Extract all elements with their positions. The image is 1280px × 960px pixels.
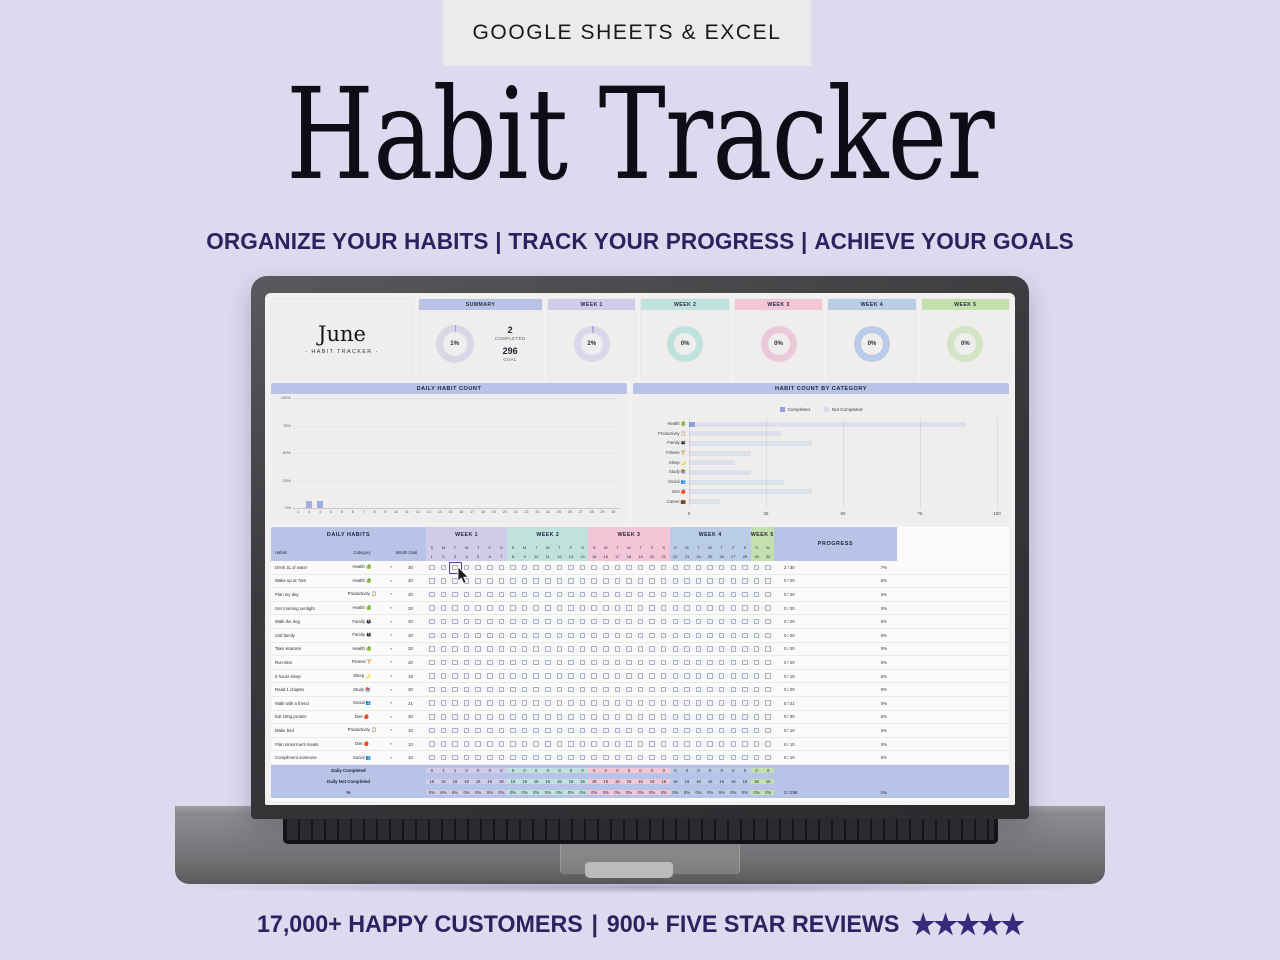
habit-day-cell[interactable] [565,728,577,734]
habit-checkbox[interactable] [533,619,539,625]
habit-day-cell[interactable] [484,741,496,747]
habit-checkbox[interactable] [545,687,551,693]
habit-checkbox[interactable] [707,565,713,571]
habit-checkbox[interactable] [522,714,528,720]
habit-day-cell[interactable] [751,619,763,625]
habit-day-cell[interactable] [658,700,670,706]
habit-day-cell[interactable] [704,755,716,761]
habit-checkbox[interactable] [464,578,470,584]
habit-category[interactable]: Productivity 📋 [337,727,387,733]
habit-day-cell[interactable] [751,646,763,652]
habit-checkbox[interactable] [557,687,563,693]
habit-checkbox[interactable] [684,714,690,720]
day-number[interactable]: 18 [623,552,635,561]
habit-day-cell[interactable] [496,605,508,611]
habit-checkbox[interactable] [603,646,609,652]
habit-day-cell[interactable] [507,714,519,720]
habit-day-cell[interactable] [693,592,705,598]
habit-checkbox[interactable] [754,578,760,584]
habit-checkbox[interactable] [452,605,458,611]
habit-checkbox[interactable] [707,619,713,625]
habit-day-cell[interactable] [681,619,693,625]
habit-day-cell[interactable] [507,633,519,639]
habit-checkbox[interactable] [719,714,725,720]
habit-day-cell[interactable] [704,646,716,652]
habit-day-cell[interactable] [670,605,682,611]
habit-checkbox[interactable] [464,592,470,598]
habit-checkbox[interactable] [580,660,586,666]
habit-checkbox[interactable] [557,714,563,720]
habit-checkbox[interactable] [568,687,574,693]
habit-checkbox[interactable] [545,660,551,666]
habit-day-cell[interactable] [542,619,554,625]
habit-day-cell[interactable] [542,741,554,747]
habit-day-cell[interactable] [623,619,635,625]
habit-checkbox[interactable] [638,605,644,611]
habit-day-cell[interactable] [472,755,484,761]
habit-checkbox[interactable] [731,660,737,666]
habit-day-cell[interactable] [472,728,484,734]
habit-day-cell[interactable] [658,673,670,679]
habit-day-cell[interactable] [635,605,647,611]
habit-checkbox[interactable] [441,741,447,747]
habit-checkbox[interactable] [452,741,458,747]
habit-checkbox[interactable] [765,673,771,679]
habit-checkbox[interactable] [441,673,447,679]
habit-day-cell[interactable] [426,673,438,679]
habit-day-cell[interactable] [728,633,740,639]
day-number[interactable]: 29 [751,552,763,561]
habit-day-cell[interactable] [681,646,693,652]
habit-checkbox[interactable] [580,673,586,679]
habit-day-cell[interactable] [577,565,589,571]
habit-day-cell[interactable] [577,714,589,720]
habit-checkbox[interactable] [591,592,597,598]
habit-day-cell[interactable] [588,741,600,747]
habit-day-cell[interactable] [658,741,670,747]
habit-checkbox[interactable] [684,660,690,666]
habit-month-goal[interactable]: 20 [395,687,426,692]
habit-day-cell[interactable] [739,605,751,611]
habit-checkbox[interactable] [673,673,679,679]
habit-day-cell[interactable] [623,673,635,679]
habit-checkbox[interactable] [754,633,760,639]
habit-day-cell[interactable] [693,633,705,639]
habit-checkbox[interactable] [649,714,655,720]
habit-day-cell[interactable] [496,673,508,679]
habit-day-cell[interactable] [438,755,450,761]
habit-day-cell[interactable] [588,714,600,720]
habit-checkbox[interactable] [731,578,737,584]
habit-day-cell[interactable] [612,728,624,734]
habit-checkbox[interactable] [765,687,771,693]
habit-checkbox[interactable] [684,646,690,652]
day-number[interactable]: 30 [762,552,774,561]
habit-checkbox[interactable] [673,755,679,761]
habit-day-cell[interactable] [554,687,566,693]
habit-checkbox[interactable] [649,578,655,584]
habit-checkbox[interactable] [487,592,493,598]
habit-day-cell[interactable] [588,700,600,706]
habit-month-goal[interactable]: 20 [395,578,426,583]
habit-checkbox[interactable] [719,700,725,706]
habit-day-cell[interactable] [588,619,600,625]
habit-day-cell[interactable] [554,578,566,584]
habit-category[interactable]: Health 🍏 [337,605,387,611]
habit-checkbox[interactable] [615,578,621,584]
habit-checkbox[interactable] [661,633,667,639]
habit-day-cell[interactable] [670,687,682,693]
habit-day-cell[interactable] [751,660,763,666]
habit-checkbox[interactable] [429,700,435,706]
habit-checkbox[interactable] [615,660,621,666]
habit-checkbox[interactable] [673,700,679,706]
habit-day-cell[interactable] [496,755,508,761]
habit-checkbox[interactable] [696,592,702,598]
habit-checkbox[interactable] [638,619,644,625]
habit-day-cell[interactable] [635,660,647,666]
habit-checkbox[interactable] [649,592,655,598]
habit-day-cell[interactable] [484,728,496,734]
habit-day-cell[interactable] [670,728,682,734]
habit-checkbox[interactable] [452,660,458,666]
habit-checkbox[interactable] [522,660,528,666]
habit-day-cell[interactable] [612,673,624,679]
habit-checkbox[interactable] [661,714,667,720]
habit-checkbox[interactable] [603,714,609,720]
habit-checkbox[interactable] [522,728,528,734]
habit-checkbox[interactable] [673,646,679,652]
habit-day-cell[interactable] [635,633,647,639]
habit-day-cell[interactable] [739,741,751,747]
habit-day-cell[interactable] [762,755,774,761]
habit-day-cell[interactable] [530,714,542,720]
table-row[interactable]: Drink 3L of waterHealth 🍏▾302 / 307% [271,561,1009,575]
habit-checkbox[interactable] [557,700,563,706]
habit-day-cell[interactable] [484,660,496,666]
habit-day-cell[interactable] [530,578,542,584]
habit-day-cell[interactable] [461,728,473,734]
habit-day-cell[interactable] [472,619,484,625]
habit-day-cell[interactable] [612,633,624,639]
habit-checkbox[interactable] [719,755,725,761]
habit-day-cell[interactable] [565,565,577,571]
habit-day-cell[interactable] [507,605,519,611]
habit-day-cell[interactable] [588,578,600,584]
habit-checkbox[interactable] [580,741,586,747]
habit-day-cell[interactable] [449,619,461,625]
habit-checkbox[interactable] [673,741,679,747]
habit-day-cell[interactable] [681,565,693,571]
habit-day-cell[interactable] [577,728,589,734]
habit-day-cell[interactable] [623,646,635,652]
habit-day-cell[interactable] [530,741,542,747]
habit-day-cell[interactable] [507,660,519,666]
habit-day-cell[interactable] [542,687,554,693]
habit-day-cell[interactable] [600,619,612,625]
habit-day-cell[interactable] [588,592,600,598]
habit-day-cell[interactable] [472,741,484,747]
habit-day-cell[interactable] [646,755,658,761]
habit-name[interactable]: Run 5km [271,660,337,665]
habit-day-cell[interactable] [554,741,566,747]
habit-day-cell[interactable] [762,646,774,652]
habit-checkbox[interactable] [429,755,435,761]
table-row[interactable]: Get morning sunlightHealth 🍏▾200 / 200% [271,602,1009,616]
habit-day-cell[interactable] [577,673,589,679]
habit-day-cell[interactable] [739,633,751,639]
habit-checkbox[interactable] [557,673,563,679]
habit-day-cell[interactable] [588,633,600,639]
habit-day-cell[interactable] [728,687,740,693]
habit-checkbox[interactable] [754,714,760,720]
habit-day-cell[interactable] [762,714,774,720]
habit-checkbox[interactable] [603,565,609,571]
habit-checkbox[interactable] [638,687,644,693]
habit-day-cell[interactable] [716,605,728,611]
habit-checkbox[interactable] [615,755,621,761]
habit-checkbox[interactable] [580,578,586,584]
habit-category[interactable]: Family 👪 [337,632,387,638]
habit-checkbox[interactable] [533,700,539,706]
habit-checkbox[interactable] [603,660,609,666]
habit-checkbox[interactable] [626,605,632,611]
habit-checkbox[interactable] [707,646,713,652]
habit-day-cell[interactable] [612,646,624,652]
habit-checkbox[interactable] [557,565,563,571]
habit-month-goal[interactable]: 15 [395,674,426,679]
habit-day-cell[interactable] [739,714,751,720]
habit-checkbox[interactable] [649,687,655,693]
habit-day-cell[interactable] [658,728,670,734]
habit-checkbox[interactable] [754,687,760,693]
habit-day-cell[interactable] [426,741,438,747]
habit-day-cell[interactable] [588,728,600,734]
habit-day-cell[interactable] [519,592,531,598]
habit-checkbox[interactable] [499,605,505,611]
habit-checkbox[interactable] [429,619,435,625]
day-number[interactable]: 12 [554,552,566,561]
habit-checkbox[interactable] [580,700,586,706]
habit-checkbox[interactable] [568,592,574,598]
habit-checkbox[interactable] [591,633,597,639]
habit-checkbox[interactable] [719,687,725,693]
habit-checkbox[interactable] [661,605,667,611]
habit-checkbox[interactable] [673,633,679,639]
habit-day-cell[interactable] [519,755,531,761]
habit-checkbox[interactable] [580,755,586,761]
habit-checkbox[interactable] [441,687,447,693]
habit-day-cell[interactable] [739,700,751,706]
chevron-down-icon[interactable]: ▾ [387,620,395,624]
habit-month-goal[interactable]: 10 [395,742,426,747]
habit-checkbox[interactable] [580,565,586,571]
habit-checkbox[interactable] [673,619,679,625]
habit-checkbox[interactable] [754,741,760,747]
habit-checkbox[interactable] [707,687,713,693]
habit-day-cell[interactable] [542,578,554,584]
habit-day-cell[interactable] [426,646,438,652]
day-number[interactable]: 19 [635,552,647,561]
habit-day-cell[interactable] [751,714,763,720]
habit-month-goal[interactable]: 30 [395,565,426,570]
habit-checkbox[interactable] [591,619,597,625]
table-row[interactable]: Run 5kmFitness 🏋▾200 / 200% [271,656,1009,670]
habit-checkbox[interactable] [487,714,493,720]
habit-day-cell[interactable] [519,660,531,666]
habit-checkbox[interactable] [510,592,516,598]
habit-checkbox[interactable] [545,755,551,761]
habit-day-cell[interactable] [751,578,763,584]
habit-name[interactable]: Plan my day [271,592,337,597]
habit-month-goal[interactable]: 21 [395,701,426,706]
habit-day-cell[interactable] [496,660,508,666]
habit-month-goal[interactable]: 20 [395,633,426,638]
habit-day-cell[interactable] [484,687,496,693]
habit-checkbox[interactable] [731,646,737,652]
habit-checkbox[interactable] [684,673,690,679]
habit-day-cell[interactable] [635,673,647,679]
habit-day-cell[interactable] [762,660,774,666]
habit-day-cell[interactable] [716,755,728,761]
table-row[interactable]: Read 1 chapterStudy 📚▾200 / 200% [271,683,1009,697]
habit-checkbox[interactable] [510,605,516,611]
habit-checkbox[interactable] [742,646,748,652]
habit-day-cell[interactable] [600,673,612,679]
habit-checkbox[interactable] [626,592,632,598]
habit-day-cell[interactable] [751,755,763,761]
habit-checkbox[interactable] [510,728,516,734]
habit-checkbox[interactable] [649,619,655,625]
habit-day-cell[interactable] [542,646,554,652]
habit-day-cell[interactable] [577,605,589,611]
habit-day-cell[interactable] [461,619,473,625]
habit-day-cell[interactable] [438,646,450,652]
habit-day-cell[interactable] [496,700,508,706]
habit-day-cell[interactable] [600,605,612,611]
habit-day-cell[interactable] [739,687,751,693]
habit-day-cell[interactable] [670,700,682,706]
day-number[interactable]: 4 [461,552,473,561]
habit-checkbox[interactable] [568,605,574,611]
habit-checkbox[interactable] [731,605,737,611]
habit-day-cell[interactable] [635,714,647,720]
habit-day-cell[interactable] [751,592,763,598]
habit-day-cell[interactable] [484,646,496,652]
habit-checkbox[interactable] [533,646,539,652]
habit-checkbox[interactable] [510,741,516,747]
habit-checkbox[interactable] [626,673,632,679]
habit-checkbox[interactable] [626,741,632,747]
habit-checkbox[interactable] [754,565,760,571]
habit-day-cell[interactable] [693,660,705,666]
habit-day-cell[interactable] [519,565,531,571]
habit-day-cell[interactable] [600,633,612,639]
habit-day-cell[interactable] [461,660,473,666]
habit-day-cell[interactable] [646,741,658,747]
habit-day-cell[interactable] [646,673,658,679]
habit-day-cell[interactable] [658,646,670,652]
habit-checkbox[interactable] [591,578,597,584]
habit-day-cell[interactable] [565,714,577,720]
habit-day-cell[interactable] [762,633,774,639]
habit-day-cell[interactable] [670,565,682,571]
habit-day-cell[interactable] [496,646,508,652]
habit-checkbox[interactable] [591,673,597,679]
habit-day-cell[interactable] [681,673,693,679]
habit-checkbox[interactable] [487,687,493,693]
habit-checkbox[interactable] [603,687,609,693]
habit-checkbox[interactable] [696,660,702,666]
habit-day-cell[interactable] [681,605,693,611]
habit-day-cell[interactable] [542,728,554,734]
habit-checkbox[interactable] [464,673,470,679]
habit-day-cell[interactable] [762,605,774,611]
habit-checkbox[interactable] [638,646,644,652]
habit-checkbox[interactable] [754,646,760,652]
habit-checkbox[interactable] [626,700,632,706]
habit-day-cell[interactable] [530,565,542,571]
day-number[interactable]: 8 [507,552,519,561]
day-number[interactable]: 3 [449,552,461,561]
habit-day-cell[interactable] [438,619,450,625]
habit-checkbox[interactable] [696,646,702,652]
habit-day-cell[interactable] [472,578,484,584]
habit-checkbox[interactable] [638,578,644,584]
habit-checkbox[interactable] [475,755,481,761]
habit-day-cell[interactable] [438,673,450,679]
habit-checkbox[interactable] [429,673,435,679]
habit-day-cell[interactable] [704,633,716,639]
habit-checkbox[interactable] [557,660,563,666]
habit-day-cell[interactable] [496,633,508,639]
habit-day-cell[interactable] [530,646,542,652]
habit-name[interactable]: Read 1 chapter [271,687,337,692]
habit-checkbox[interactable] [522,741,528,747]
habit-day-cell[interactable] [681,755,693,761]
habit-checkbox[interactable] [765,660,771,666]
habit-checkbox[interactable] [638,673,644,679]
day-number[interactable]: 14 [577,552,589,561]
habit-day-cell[interactable] [670,646,682,652]
habit-day-cell[interactable] [438,605,450,611]
habit-checkbox[interactable] [475,565,481,571]
habit-checkbox[interactable] [719,673,725,679]
habit-day-cell[interactable] [670,755,682,761]
habit-day-cell[interactable] [542,592,554,598]
habit-checkbox[interactable] [545,565,551,571]
habit-checkbox[interactable] [441,728,447,734]
habit-day-cell[interactable] [530,605,542,611]
habit-day-cell[interactable] [588,660,600,666]
habit-day-cell[interactable] [542,700,554,706]
habit-checkbox[interactable] [533,728,539,734]
habit-day-cell[interactable] [484,605,496,611]
habit-day-cell[interactable] [751,741,763,747]
habit-checkbox[interactable] [707,592,713,598]
habit-day-cell[interactable] [704,741,716,747]
habit-checkbox[interactable] [591,728,597,734]
habit-checkbox[interactable] [615,687,621,693]
habit-checkbox[interactable] [754,728,760,734]
habit-month-goal[interactable]: 10 [395,755,426,760]
habit-name[interactable]: Plan tomorrow's meals [271,742,337,747]
habit-checkbox[interactable] [499,565,505,571]
habit-day-cell[interactable] [449,578,461,584]
habit-checkbox[interactable] [754,592,760,598]
habit-checkbox[interactable] [557,605,563,611]
habit-day-cell[interactable] [635,619,647,625]
